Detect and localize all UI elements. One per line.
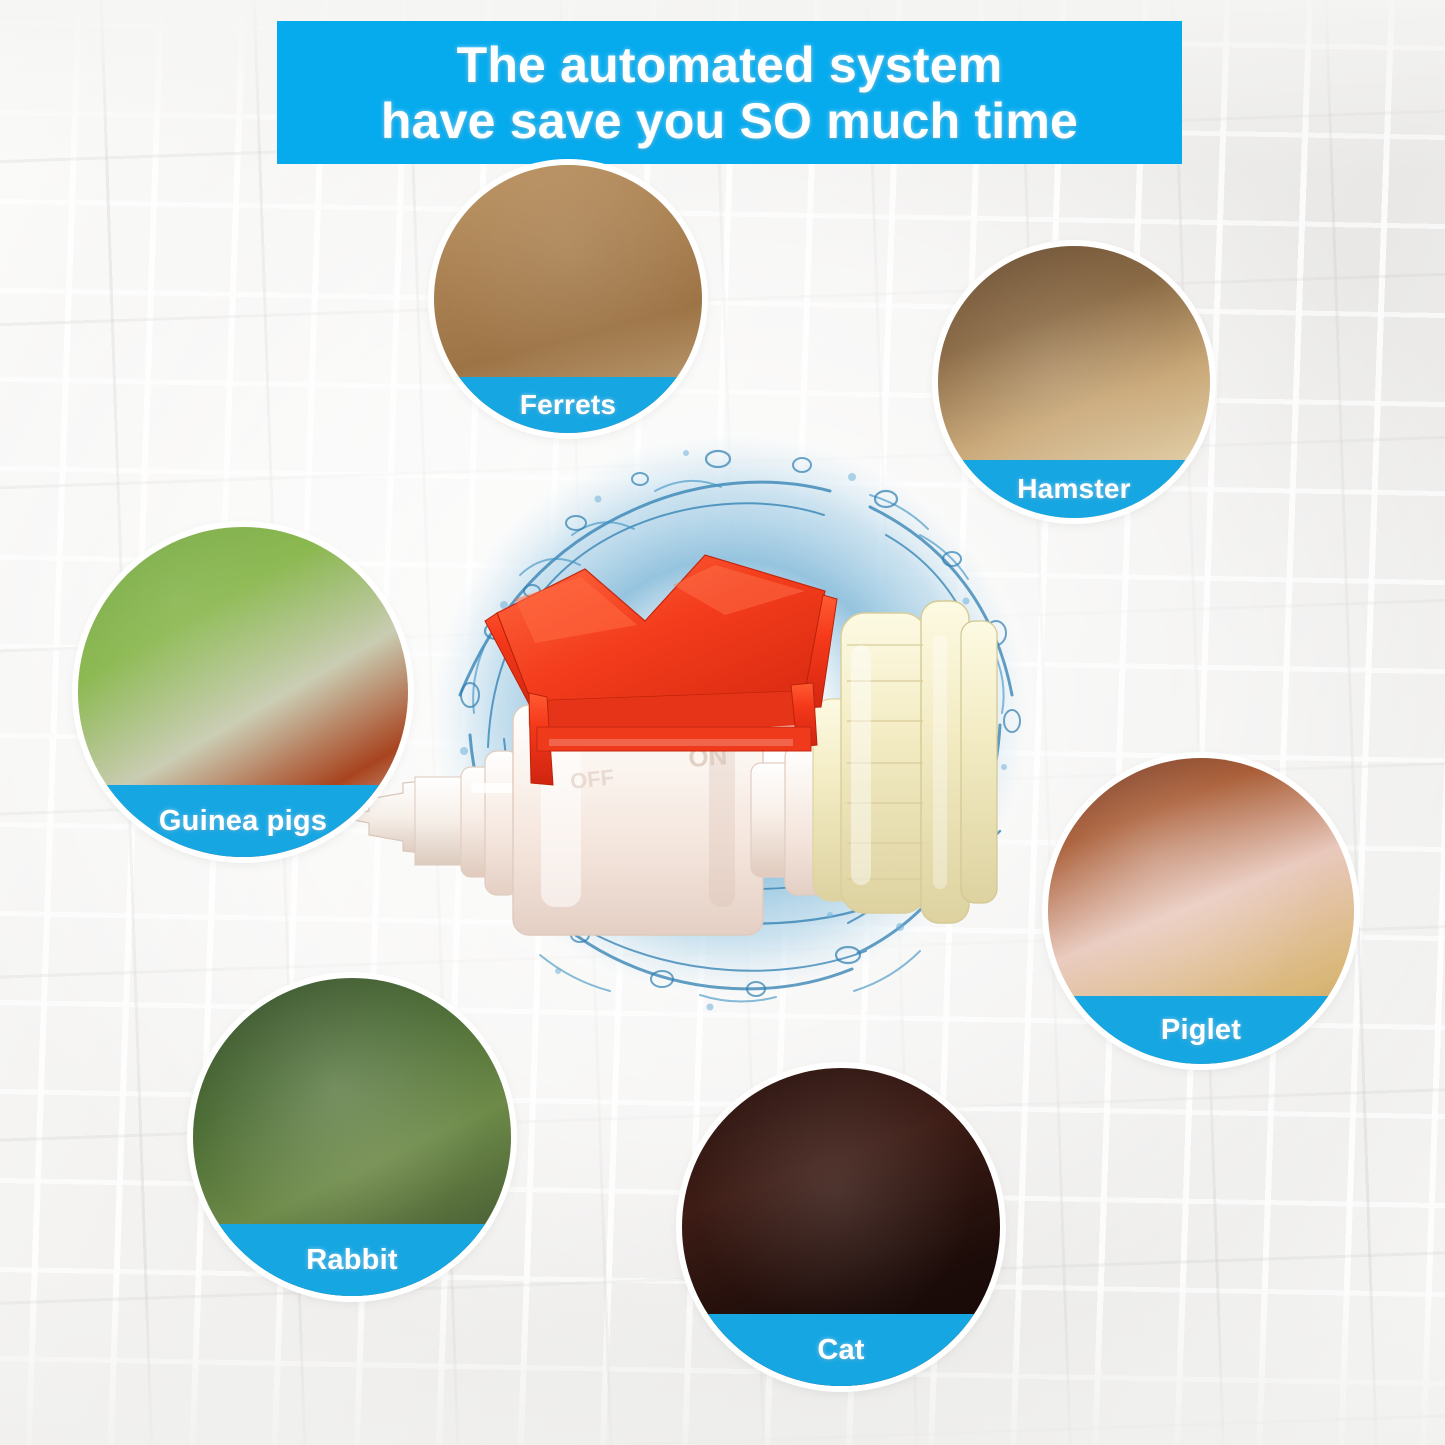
animal-label-hamster: Hamster (1017, 473, 1130, 505)
animal-label-ferret: Ferrets (520, 389, 616, 421)
animal-circle-cat: Cat (682, 1068, 1000, 1386)
animal-circle-rabbit: Rabbit (193, 978, 511, 1296)
animal-label-rabbit: Rabbit (306, 1244, 397, 1277)
animal-caption-piglet: Piglet (1048, 996, 1354, 1064)
svg-text:OFF: OFF (569, 765, 615, 794)
animal-caption-guinea-pig: Guinea pigs (78, 785, 408, 857)
animal-caption-rabbit: Rabbit (193, 1224, 511, 1296)
animal-label-cat: Cat (817, 1334, 864, 1367)
animal-caption-ferret: Ferrets (434, 377, 702, 433)
red-valve-handle (485, 555, 837, 785)
animal-circle-guinea-pig: Guinea pigs (78, 527, 408, 857)
animal-caption-cat: Cat (682, 1314, 1000, 1386)
headline-line-2: have save you SO much time (381, 94, 1078, 148)
animal-label-guinea-pig: Guinea pigs (159, 805, 327, 838)
headline-banner: The automated system have save you SO mu… (277, 21, 1182, 164)
animal-caption-hamster: Hamster (938, 460, 1210, 518)
animal-circle-ferret: Ferrets (434, 165, 702, 433)
headline-line-1: The automated system (457, 38, 1003, 92)
animal-label-piglet: Piglet (1161, 1014, 1241, 1047)
product-marketing-image: The automated system have save you SO mu… (0, 0, 1445, 1445)
animal-circle-piglet: Piglet (1048, 758, 1354, 1064)
cream-bulkhead (813, 601, 997, 923)
animal-circle-hamster: Hamster (938, 246, 1210, 518)
